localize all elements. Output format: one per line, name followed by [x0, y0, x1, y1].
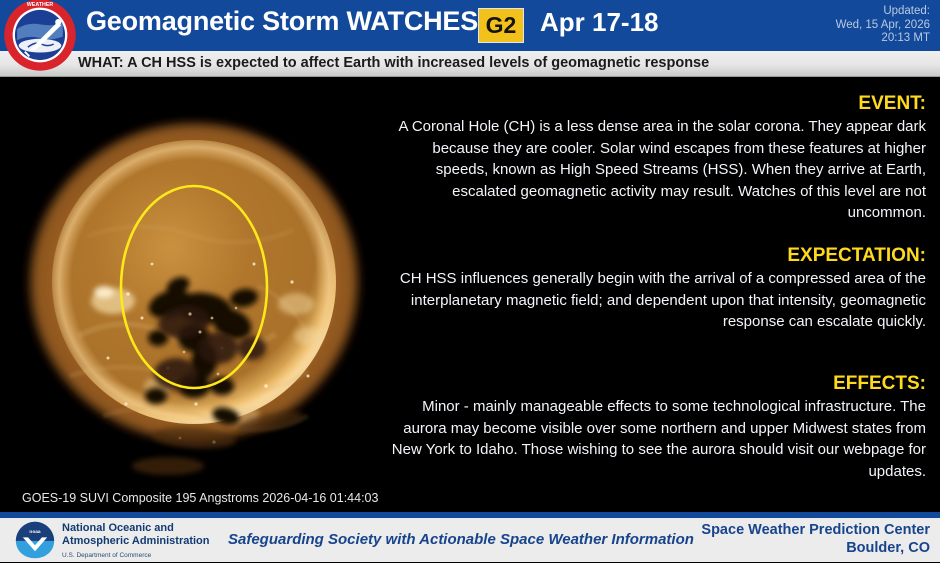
swpc-name: Space Weather Prediction Center	[701, 521, 930, 539]
solar-disk-image	[8, 86, 380, 486]
alert-date-range: Apr 17-18	[540, 7, 659, 38]
solar-image-caption: GOES-19 SUVI Composite 195 Angstroms 202…	[22, 491, 378, 505]
main-content: GOES-19 SUVI Composite 195 Angstroms 202…	[0, 78, 940, 512]
section-event-body: A Coronal Hole (CH) is a less dense area…	[386, 116, 926, 224]
swpc-location: Boulder, CO	[701, 539, 930, 557]
footer-bar: noaa National Oceanic and Atmospheric Ad…	[0, 518, 940, 562]
storm-level-badge: G2	[478, 8, 524, 43]
section-expectation: EXPECTATION: CH HSS influences generally…	[386, 244, 926, 333]
updated-date: Wed, 15 Apr, 2026	[730, 19, 930, 33]
noaa-agency-name: National Oceanic and Atmospheric Adminis…	[62, 522, 210, 563]
noaa-agency-line2: Atmospheric Administration	[62, 535, 210, 548]
noaa-logo-icon: noaa	[12, 520, 58, 560]
updated-time: 20:13 MT	[730, 32, 930, 46]
section-effects: EFFECTS: Minor - mainly manageable effec…	[386, 372, 926, 482]
section-effects-heading: EFFECTS:	[386, 372, 926, 396]
noaa-agency-line1: National Oceanic and	[62, 522, 210, 535]
section-effects-body: Minor - mainly manageable effects to som…	[386, 396, 926, 482]
footer-tagline: Safeguarding Society with Actionable Spa…	[228, 531, 694, 548]
swpc-attribution: Space Weather Prediction Center Boulder,…	[701, 521, 930, 557]
updated-timestamp-block: Updated: Wed, 15 Apr, 2026 20:13 MT	[730, 5, 930, 46]
section-event-heading: EVENT:	[386, 92, 926, 116]
noaa-agency-line3: U.S. Department of Commerce	[62, 550, 210, 563]
updated-label: Updated:	[730, 5, 930, 19]
svg-text:WEATHER: WEATHER	[27, 2, 54, 8]
what-summary-banner: WHAT: A CH HSS is expected to affect Ear…	[0, 51, 940, 77]
header-bar: WEATHER Geomagnetic Storm WATCHES G2 Apr…	[0, 0, 940, 51]
what-summary-text: WHAT: A CH HSS is expected to affect Ear…	[78, 55, 709, 71]
section-event: EVENT: A Coronal Hole (CH) is a less den…	[386, 92, 926, 224]
svg-text:noaa: noaa	[29, 530, 40, 535]
solar-image-panel	[8, 86, 380, 486]
space-weather-alert-graphic: WEATHER Geomagnetic Storm WATCHES G2 Apr…	[0, 0, 940, 562]
section-expectation-body: CH HSS influences generally begin with t…	[386, 268, 926, 333]
section-expectation-heading: EXPECTATION:	[386, 244, 926, 268]
national-weather-service-seal-icon: WEATHER	[2, 0, 78, 73]
page-title: Geomagnetic Storm WATCHES	[86, 6, 478, 37]
